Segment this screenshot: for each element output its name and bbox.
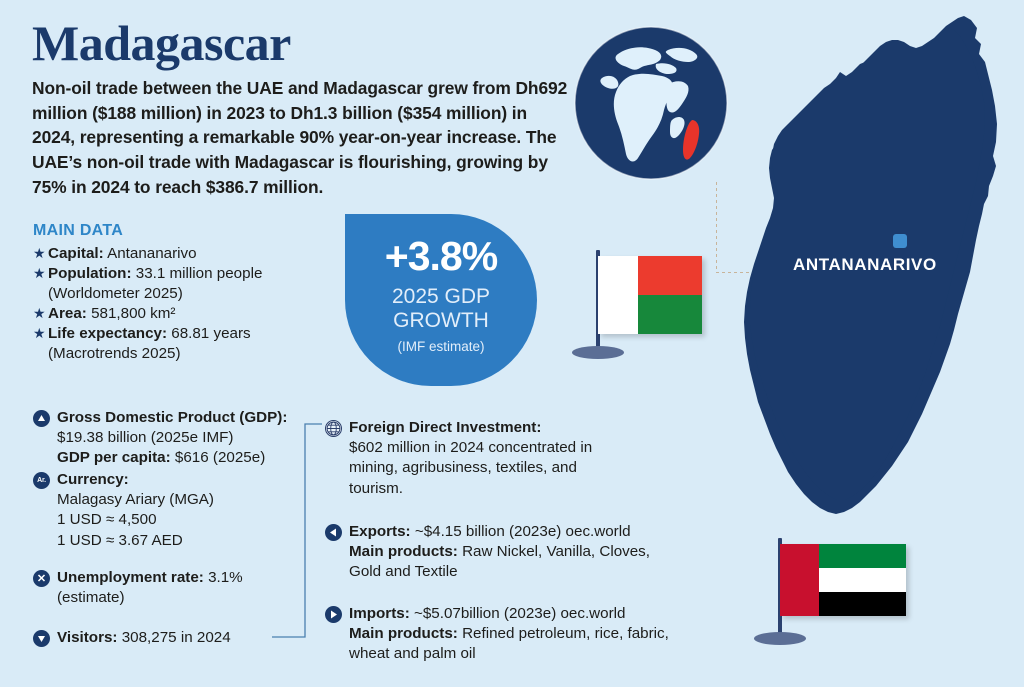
madagascar-flag [578, 242, 708, 362]
main-data-sub: (Macrotrends 2025) [48, 344, 333, 364]
flag-base [572, 346, 624, 359]
stat-block-visitors: Visitors: 308,275 in 2024 [33, 628, 333, 648]
gdp-growth-badge: +3.8% 2025 GDP GROWTH (IMF estimate) [345, 214, 537, 386]
main-data-label: Area: [48, 305, 87, 322]
star-icon: ★ [33, 264, 48, 283]
visitors-value: 308,275 in 2024 [118, 629, 231, 646]
main-data-label: Life expectancy: [48, 325, 167, 342]
exports-products-label: Main products: [349, 543, 458, 560]
main-data-value: 581,800 km² [87, 305, 176, 322]
main-data-label: Capital: [48, 245, 104, 262]
flag-base [754, 632, 806, 645]
imports-value: ~$5.07billion (2023e) oec.world [410, 605, 626, 622]
list-item: ★ Population: 33.1 million people (World… [33, 264, 333, 304]
infographic-root: Madagascar Non-oil trade between the UAE… [0, 0, 1024, 687]
growth-note: (IMF estimate) [345, 339, 537, 354]
star-icon: ★ [33, 324, 48, 343]
flag-band-white [819, 568, 906, 592]
list-item: ★ Life expectancy: 68.81 years (Macrotre… [33, 324, 333, 364]
main-data-label: Population: [48, 265, 132, 282]
triangle-down-icon [33, 630, 50, 647]
list-item: ★ Capital: Antananarivo [33, 244, 333, 264]
stat-block-currency: Ar. Currency: Malagasy Ariary (MGA) 1 US… [33, 470, 333, 551]
exports-label: Exports: [349, 523, 411, 540]
exports-value: ~$4.15 billion (2023e) oec.world [411, 523, 631, 540]
main-data-heading: MAIN DATA [33, 222, 123, 240]
capital-label: ANTANANARIVO [793, 255, 937, 275]
imports-products-label: Main products: [349, 625, 458, 642]
imports-label: Imports: [349, 605, 410, 622]
gdp-per-capita-value: $616 (2025e) [171, 449, 266, 466]
main-data-value: 68.81 years [167, 325, 251, 342]
main-data-sub: (Worldometer 2025) [48, 284, 333, 304]
flag-cloth [780, 544, 906, 616]
main-data-value: Antananarivo [104, 245, 197, 262]
gdp-title: Gross Domestic Product (GDP): [57, 409, 287, 426]
unemployment-value: 3.1% [204, 569, 243, 586]
capital-square-marker [893, 234, 907, 248]
unemployment-label: Unemployment rate: [57, 569, 204, 586]
stat-block-fdi: Foreign Direct Investment: $602 million … [325, 418, 625, 499]
unemployment-sub: (estimate) [57, 588, 243, 608]
flag-band-green [638, 295, 702, 334]
main-data-value: 33.1 million people [132, 265, 263, 282]
intro-paragraph: Non-oil trade between the UAE and Madaga… [32, 76, 572, 200]
madagascar-map [700, 14, 1024, 544]
currency-name: Malagasy Ariary (MGA) [57, 490, 214, 510]
x-circle-icon: ✕ [33, 570, 50, 587]
triangle-up-icon [33, 410, 50, 427]
flag-band-red [638, 256, 702, 295]
growth-label: 2025 GDP GROWTH [345, 285, 537, 332]
flag-cloth [598, 256, 702, 334]
flag-band-green [819, 544, 906, 568]
stat-block-unemployment: ✕ Unemployment rate: 3.1% (estimate) [33, 568, 333, 608]
flag-band-black [819, 592, 906, 616]
fdi-title: Foreign Direct Investment: [349, 419, 541, 436]
triangle-right-icon [325, 606, 342, 623]
flag-band-white [598, 256, 638, 334]
ariary-icon: Ar. [33, 472, 50, 489]
visitors-label: Visitors: [57, 629, 118, 646]
flag-band-red [780, 544, 819, 616]
currency-title: Currency: [57, 471, 129, 488]
page-title: Madagascar [32, 18, 291, 68]
triangle-left-icon [325, 524, 342, 541]
gdp-value: $19.38 billion (2025e IMF) [57, 428, 287, 448]
stat-block-exports: Exports: ~$4.15 billion (2023e) oec.worl… [325, 522, 685, 583]
growth-percent: +3.8% [345, 236, 537, 277]
star-icon: ★ [33, 244, 48, 263]
list-item: ★ Area: 581,800 km² [33, 304, 333, 324]
main-data-list: ★ Capital: Antananarivo ★ Population: 33… [33, 244, 333, 364]
stat-block-imports: Imports: ~$5.07billion (2023e) oec.world… [325, 604, 685, 665]
globe-icon [325, 420, 342, 437]
star-icon: ★ [33, 304, 48, 323]
currency-rate-aed: 1 USD ≈ 3.67 AED [57, 531, 214, 551]
uae-flag [758, 528, 918, 648]
gdp-per-capita-label: GDP per capita: [57, 449, 171, 466]
currency-rate-mga: 1 USD ≈ 4,500 [57, 510, 214, 530]
stat-block-gdp: Gross Domestic Product (GDP): $19.38 bil… [33, 408, 333, 469]
fdi-body: $602 million in 2024 concentrated in min… [349, 438, 625, 499]
